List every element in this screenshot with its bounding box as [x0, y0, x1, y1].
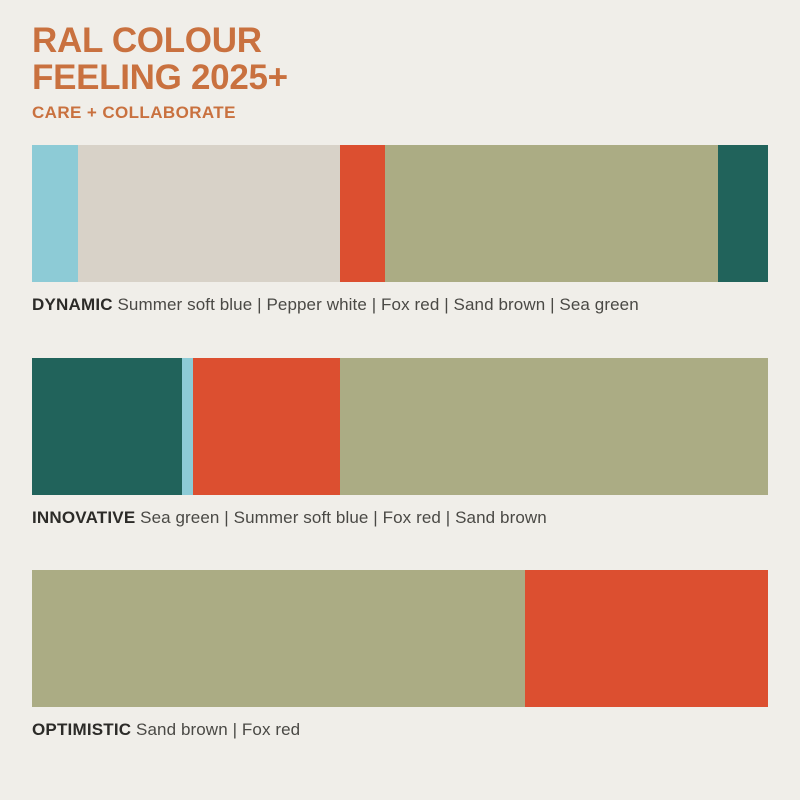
- poster-title-line-1: RAL COLOUR: [32, 22, 752, 59]
- swatch-pepper-white: [78, 145, 340, 282]
- palette-group-innovative: INNOVATIVE Sea green | Summer soft blue …: [32, 358, 768, 529]
- swatch-sand-brown: [385, 145, 718, 282]
- colour-bar: [32, 358, 768, 495]
- swatch-fox-red: [193, 358, 340, 495]
- palette-name: OPTIMISTIC: [32, 720, 131, 739]
- palette-caption: OPTIMISTIC Sand brown | Fox red: [32, 719, 768, 741]
- swatch-summer-soft-blue: [182, 358, 193, 495]
- poster-title-line-2: FEELING 2025+: [32, 59, 752, 96]
- palette-caption: INNOVATIVE Sea green | Summer soft blue …: [32, 507, 768, 529]
- palette-colour-list: Sea green | Summer soft blue | Fox red |…: [140, 508, 547, 527]
- ral-colour-feeling-poster: RAL COLOUR FEELING 2025+ CARE + COLLABOR…: [0, 0, 800, 800]
- poster-subtitle: CARE + COLLABORATE: [32, 102, 752, 124]
- palette-name: INNOVATIVE: [32, 508, 135, 527]
- swatch-summer-soft-blue: [32, 145, 78, 282]
- colour-bar: [32, 570, 768, 707]
- swatch-fox-red: [525, 570, 768, 707]
- swatch-sand-brown: [32, 570, 525, 707]
- swatch-sea-green: [32, 358, 182, 495]
- poster-header: RAL COLOUR FEELING 2025+ CARE + COLLABOR…: [32, 22, 752, 124]
- palette-caption: DYNAMIC Summer soft blue | Pepper white …: [32, 294, 768, 316]
- colour-bar: [32, 145, 768, 282]
- swatch-fox-red: [340, 145, 385, 282]
- palette-name: DYNAMIC: [32, 295, 113, 314]
- palette-colour-list: Summer soft blue | Pepper white | Fox re…: [117, 295, 638, 314]
- swatch-sand-brown: [340, 358, 768, 495]
- palette-colour-list: Sand brown | Fox red: [136, 720, 300, 739]
- palette-group-dynamic: DYNAMIC Summer soft blue | Pepper white …: [32, 145, 768, 316]
- palette-group-optimistic: OPTIMISTIC Sand brown | Fox red: [32, 570, 768, 741]
- swatch-sea-green: [718, 145, 768, 282]
